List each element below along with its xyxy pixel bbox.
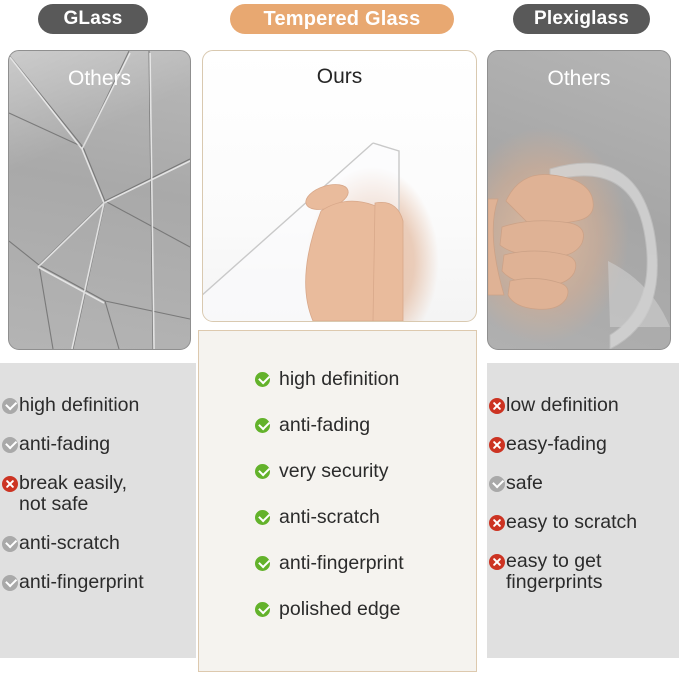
header-pill-tempered-glass-label: Tempered Glass — [264, 8, 421, 31]
header-pill-glass: GLass — [38, 4, 148, 34]
spec-item-label: safe — [505, 473, 543, 494]
header-pill-tempered-glass: Tempered Glass — [230, 4, 454, 34]
check-gray-icon — [489, 476, 505, 492]
spec-item: anti-fading — [255, 415, 476, 436]
spec-item-label: low definition — [505, 395, 619, 416]
photo-center-caption: Ours — [203, 65, 476, 89]
spec-item-label: easy to scratch — [505, 512, 637, 533]
cross-red-icon — [489, 554, 505, 570]
cross-red-icon — [489, 398, 505, 414]
glass-sheet-icon — [203, 51, 476, 321]
check-green-icon — [255, 464, 270, 479]
header-pill-glass-label: GLass — [63, 8, 122, 30]
spec-item: anti-fingerprint — [255, 553, 476, 574]
photo-plexiglass-bending-hand: Others — [487, 50, 671, 350]
spec-list-tempered-glass: high definition anti-fading very securit… — [199, 331, 476, 620]
flexible-sheet-icon — [488, 51, 670, 349]
check-gray-icon — [2, 437, 18, 453]
check-gray-icon — [2, 398, 18, 414]
check-green-icon — [255, 602, 270, 617]
check-gray-icon — [2, 536, 18, 552]
spec-panel-plexiglass: low definition easy-fading safe easy to … — [487, 363, 679, 658]
header-pill-plexiglass: Plexiglass — [513, 4, 650, 34]
spec-item: high definition — [2, 395, 196, 416]
spec-item: break easily, not safe — [2, 473, 196, 515]
spec-item: anti-fading — [2, 434, 196, 455]
cross-red-icon — [489, 515, 505, 531]
spec-item-label: anti-scratch — [270, 507, 380, 528]
spec-item: easy to get fingerprints — [489, 551, 679, 593]
spec-item: easy-fading — [489, 434, 679, 455]
spec-item-label: anti-fading — [18, 434, 110, 455]
spec-item: anti-scratch — [2, 533, 196, 554]
photo-left-caption: Others — [9, 67, 190, 91]
check-green-icon — [255, 372, 270, 387]
spec-list-plexiglass: low definition easy-fading safe easy to … — [487, 363, 679, 593]
spec-item: high definition — [255, 369, 476, 390]
spec-item-label: high definition — [18, 395, 139, 416]
check-green-icon — [255, 418, 270, 433]
spec-item: low definition — [489, 395, 679, 416]
spec-item-label: anti-scratch — [18, 533, 120, 554]
spec-item-label: polished edge — [270, 599, 400, 620]
check-gray-icon — [2, 575, 18, 591]
photo-shattered-glass: Others — [8, 50, 191, 350]
spec-item: very security — [255, 461, 476, 482]
header-pill-plexiglass-label: Plexiglass — [534, 8, 629, 30]
spec-item-label: very security — [270, 461, 388, 482]
cross-red-icon — [489, 437, 505, 453]
cross-red-icon — [2, 476, 18, 492]
check-green-icon — [255, 510, 270, 525]
crack-lines-icon — [9, 51, 190, 349]
spec-panel-glass: high definition anti-fading break easily… — [0, 363, 196, 658]
spec-item-label: anti-fingerprint — [270, 553, 404, 574]
spec-item: anti-fingerprint — [2, 572, 196, 593]
spec-item: anti-scratch — [255, 507, 476, 528]
spec-list-glass: high definition anti-fading break easily… — [0, 363, 196, 593]
spec-item: easy to scratch — [489, 512, 679, 533]
check-green-icon — [255, 556, 270, 571]
spec-item-label: break easily, not safe — [18, 473, 127, 515]
photo-tempered-glass-hand: Ours — [202, 50, 477, 322]
spec-item: safe — [489, 473, 679, 494]
photo-right-caption: Others — [488, 67, 670, 91]
spec-item-label: anti-fingerprint — [18, 572, 144, 593]
spec-panel-tempered-glass: high definition anti-fading very securit… — [198, 330, 477, 672]
spec-item: polished edge — [255, 599, 476, 620]
spec-item-label: anti-fading — [270, 415, 370, 436]
spec-item-label: high definition — [270, 369, 399, 390]
spec-item-label: easy to get fingerprints — [505, 551, 602, 593]
spec-item-label: easy-fading — [505, 434, 607, 455]
